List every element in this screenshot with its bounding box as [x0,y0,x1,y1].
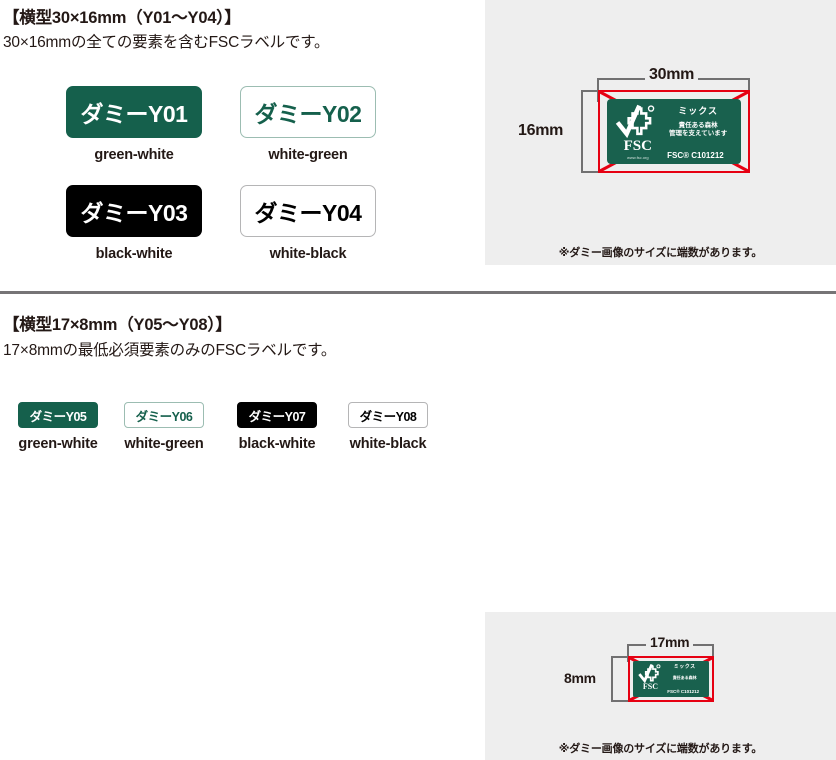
dim-label-height-8mm: 8mm [560,670,600,686]
fsc-mix-text: ミックス [662,107,734,116]
swatch-caption-y05: green-white [18,436,98,452]
fsc-mix-text-small: ミックス [664,665,705,670]
page-subtitle-y01-y04: 30×16mmの全ての要素を含むFSCラベルです。 [3,30,329,52]
panel-note-y01-y04: ※ダミー画像のサイズに端数があります。 [485,244,836,260]
swatch-caption-y03: black-white [66,246,202,262]
fsc-code: FSC® C101212 [655,152,735,160]
swatch-caption-y02: white-green [240,147,376,163]
dim-line-vertical-16mm [581,90,583,173]
section-y01-y04: 【横型30×16mm（Y01〜Y04）】 30×16mmの全ての要素を含むFSC… [0,0,836,292]
swatch-y03[interactable]: ダミーY03 [66,185,202,237]
fsc-description: 責任ある森林 管理を支えています [661,122,736,138]
dim-line-vertical-8mm [611,656,613,702]
swatch-y05[interactable]: ダミーY05 [18,402,98,428]
dimension-diagram-17x8: 17mm 8mm FSC ミックス [485,612,836,722]
fsc-label-graphic-17x8: FSC ミックス 責任ある森林 FSC® C101212 [633,661,709,697]
page-title-y05-y08: 【横型17×8mm（Y05〜Y08）】 [3,311,232,335]
fsc-description-small: 責任ある森林 [663,676,706,681]
swatch-y06[interactable]: ダミーY06 [124,402,204,428]
dimension-diagram-30x16: 30mm 16mm FSC www.fsc [485,0,836,205]
dim-tick-bottom-8mm [611,700,628,702]
swatch-card-y06[interactable]: ダミーY06 white-green [124,402,204,452]
swatch-y01[interactable]: ダミーY01 [66,86,202,138]
fsc-code-small: FSC® C101212 [660,690,706,695]
swatch-card-y02[interactable]: ダミーY02 white-green [240,86,376,163]
swatch-card-y08[interactable]: ダミーY08 white-black [348,402,428,452]
swatch-card-y05[interactable]: ダミーY05 green-white [18,402,98,452]
fsc-label-graphic-30x16: FSC www.fsc.org ミックス 責任ある森林 管理を支えています FS… [607,99,741,164]
dim-label-height-16mm: 16mm [514,122,567,140]
swatch-y07[interactable]: ダミーY07 [237,402,317,428]
section-y05-y08: 【横型17×8mm（Y05〜Y08）】 17×8mmの最低必須要素のみのFSCラ… [0,292,836,468]
spec-panel-y01-y04: 30mm 16mm FSC www.fsc [485,0,836,265]
spec-panel-y05-y08: 17mm 8mm FSC ミックス [485,612,836,760]
dim-label-width-30mm: 30mm [645,66,698,84]
swatch-caption-y08: white-black [348,436,428,452]
swatch-caption-y04: white-black [240,246,376,262]
panel-note-y05-y08: ※ダミー画像のサイズに端数があります。 [485,740,836,756]
swatch-caption-y01: green-white [66,147,202,163]
dim-tick-bottom-16mm [581,171,599,173]
swatch-y04[interactable]: ダミーY04 [240,185,376,237]
swatch-card-y07[interactable]: ダミーY07 black-white [237,402,317,452]
dim-tick-top-16mm [581,90,599,92]
swatch-card-y03[interactable]: ダミーY03 black-white [66,185,202,262]
swatch-caption-y07: black-white [237,436,317,452]
swatch-card-y01[interactable]: ダミーY01 green-white [66,86,202,163]
swatch-card-y04[interactable]: ダミーY04 white-black [240,185,376,262]
dim-label-width-17mm: 17mm [646,634,693,650]
swatch-y08[interactable]: ダミーY08 [348,402,428,428]
page-title-y01-y04: 【横型30×16mm（Y01〜Y04）】 [3,4,241,28]
dim-tick-top-8mm [611,656,628,658]
swatch-y02[interactable]: ダミーY02 [240,86,376,138]
page-subtitle-y05-y08: 17×8mmの最低必須要素のみのFSCラベルです。 [3,338,336,360]
fsc-description-line2: 管理を支えています [661,130,736,138]
swatch-caption-y06: white-green [124,436,204,452]
